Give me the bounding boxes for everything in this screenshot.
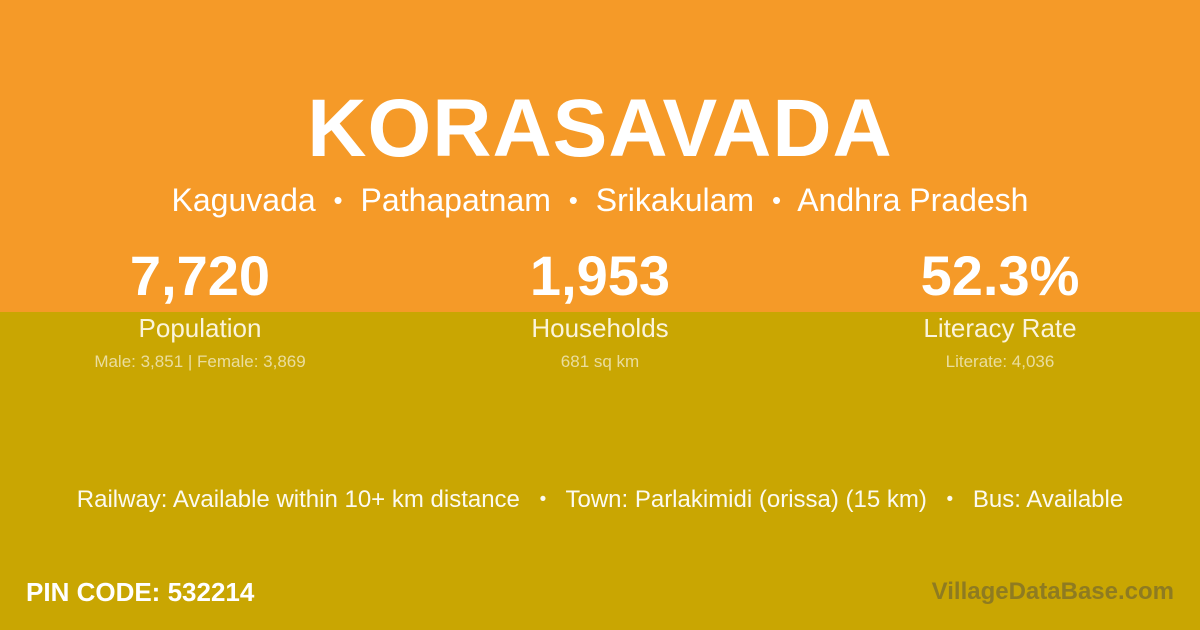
amenity-separator-icon: • <box>527 489 560 510</box>
amenity-separator-icon: • <box>934 489 967 510</box>
stat-label: Households <box>400 312 800 344</box>
breadcrumb-item-state: Andhra Pradesh <box>797 182 1028 218</box>
breadcrumb-item-mandal: Pathapatnam <box>361 182 551 218</box>
stat-sublabel: Literate: 4,036 <box>800 351 1200 373</box>
breadcrumb-separator-icon: • <box>560 185 587 215</box>
stat-value: 7,720 <box>0 244 400 308</box>
stat-population: 7,720 Population Male: 3,851 | Female: 3… <box>0 244 400 373</box>
village-info-card: KORASAVADA Kaguvada • Pathapatnam • Srik… <box>0 0 1200 630</box>
stat-households: 1,953 Households 681 sq km <box>400 244 800 373</box>
breadcrumb: Kaguvada • Pathapatnam • Srikakulam • An… <box>0 180 1200 220</box>
stat-sublabel: Male: 3,851 | Female: 3,869 <box>0 351 400 373</box>
breadcrumb-item-district: Srikakulam <box>596 182 754 218</box>
page-title: KORASAVADA <box>0 82 1200 176</box>
amenity-nearest-town: Town: Parlakimidi (orissa) (15 km) <box>565 486 926 513</box>
pin-code: PIN CODE: 532214 <box>26 576 254 608</box>
stat-value: 52.3% <box>800 244 1200 308</box>
stat-value: 1,953 <box>400 244 800 308</box>
amenities-line: Railway: Available within 10+ km distanc… <box>0 484 1200 516</box>
stat-literacy-rate: 52.3% Literacy Rate Literate: 4,036 <box>800 244 1200 373</box>
stat-label: Literacy Rate <box>800 312 1200 344</box>
stat-label: Population <box>0 312 400 344</box>
stats-row: 7,720 Population Male: 3,851 | Female: 3… <box>0 244 1200 373</box>
breadcrumb-item-village: Kaguvada <box>172 182 316 218</box>
breadcrumb-separator-icon: • <box>325 185 352 215</box>
amenity-bus: Bus: Available <box>973 486 1123 513</box>
amenity-railway: Railway: Available within 10+ km distanc… <box>77 486 520 513</box>
stat-sublabel: 681 sq km <box>400 351 800 373</box>
site-branding: VillageDataBase.com <box>932 576 1174 608</box>
breadcrumb-separator-icon: • <box>763 185 790 215</box>
